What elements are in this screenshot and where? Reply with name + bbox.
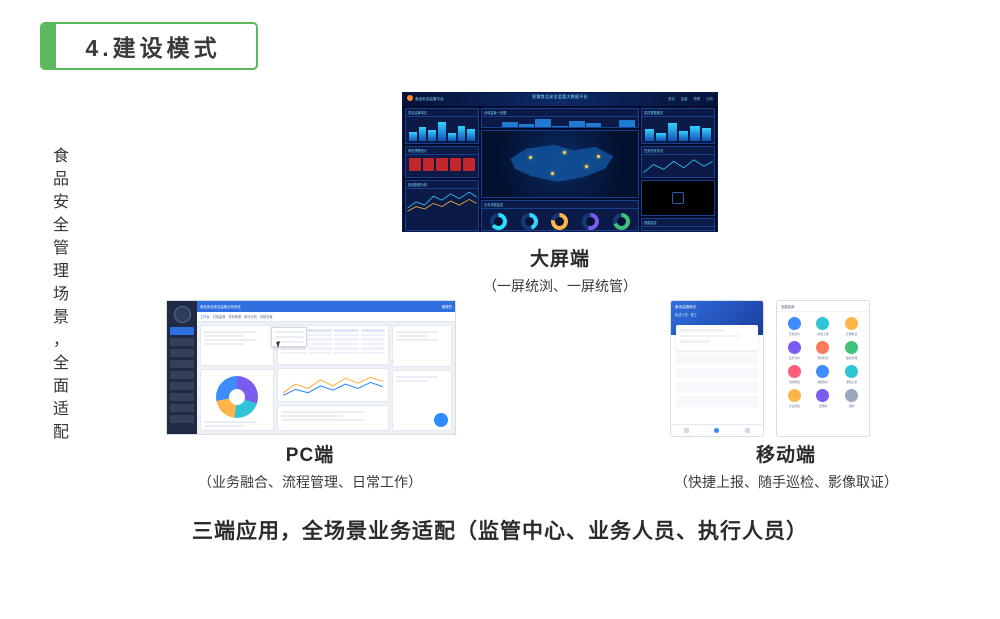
list-item[interactable] [676,354,758,365]
donut-gauge [551,213,568,230]
side-char: 品 [48,168,74,191]
side-char: 管 [48,237,74,260]
donut-gauge [582,213,599,230]
app-grid-item[interactable]: 抽检管理 [838,341,865,360]
mobile-apps-title: 全部应用 [777,301,869,309]
pc-sidebar-item[interactable] [170,327,194,335]
pc-sidebar-item[interactable] [170,404,194,412]
app-icon [845,341,858,354]
pc-sidebar [167,301,197,434]
app-grid-item[interactable]: 任务待办 [781,341,808,360]
bigscreen-tab[interactable]: 预警 [693,97,700,101]
pc-card-filters [200,325,274,366]
pc-content [197,322,455,434]
app-label: 任务待办 [781,356,808,360]
app-label: 我的 [838,404,865,408]
caption-mobile-sub: （快捷上报、随手巡检、影像取证） [636,472,936,492]
side-char: 景 [48,306,74,329]
app-label: 问题整改 [781,380,808,384]
pc-tab[interactable]: 日常监管 [213,314,226,319]
bigscreen-title: 智慧食品安全监管大数据平台 [532,94,588,100]
mobile-home-screen: 食安监管助手 执法人员 · 张工 [670,300,764,437]
app-label: 法规库 [810,404,837,408]
panel-title: 全域监管一张图 [482,109,638,117]
app-icon [816,317,829,330]
pc-tab[interactable]: 统计分析 [244,314,257,319]
pc-sidebar-item[interactable] [170,360,194,368]
caption-bigscreen: 大屏端 （一屏统浏、一屏统管） [402,244,718,296]
app-icon [788,365,801,378]
pc-card-donut [200,369,274,431]
bigscreen-middle-column: 全域监管一张图 业务流程监控 [481,108,639,231]
line-chart [406,189,478,213]
caption-mobile: 移动端 （快捷上报、随手巡检、影像取证） [636,440,936,492]
panel-title: 重点监管单位 [406,109,478,117]
pc-tab[interactable]: 任务管理 [228,314,241,319]
map-region-shape [501,140,620,186]
donut-gauge [490,213,507,230]
donut-row [482,209,638,231]
bigscreen-panel-left-mid: 风险预警统计 [405,146,479,178]
mobile-list [676,354,758,407]
bigscreen-tab[interactable]: 首页 [668,97,675,101]
app-label: 现场检查 [810,356,837,360]
bar-chart [642,117,714,143]
list-item[interactable] [676,368,758,379]
bigscreen-mockup: 食品安全监管平台 智慧食品安全监管大数据平台 首页 监管 预警 分析 重点监管单… [402,92,718,232]
side-char: 场 [48,283,74,306]
bigscreen-tab[interactable]: 分析 [706,97,713,101]
mobile-mockup-group: 食安监管助手 执法人员 · 张工 全部应用 日常巡查 [664,300,904,435]
bigscreen-tabs: 首页 监管 预警 分析 [663,96,713,101]
app-grid-item[interactable]: 问题整改 [781,365,808,384]
caption-bigscreen-title: 大屏端 [402,244,718,271]
app-label: 通知公告 [838,380,865,384]
side-char: 全 [48,214,74,237]
pc-topbar-user[interactable]: 管理员 [442,304,452,309]
app-label: 快捷上报 [810,332,837,336]
app-grid-item[interactable]: 日常巡查 [781,317,808,336]
side-char: 食 [48,145,74,168]
mobile-tabbar [671,424,763,436]
mobile-app-user: 执法人员 · 张工 [675,312,759,317]
list-item[interactable] [676,382,758,393]
bigscreen-left-column: 重点监管单位 风险预警统计 检测数据分析 [405,108,479,231]
logo-dot-icon [407,95,413,101]
bigscreen-tab[interactable]: 监管 [681,97,688,101]
tabbar-home-icon[interactable] [684,428,689,433]
pc-tabbar: 工作台 日常监管 任务管理 统计分析 系统设置 [197,312,455,322]
pc-topbar: 食品安全综合监管业务系统 管理员 [197,301,455,312]
app-icon [845,389,858,402]
pc-mockup: 食品安全综合监管业务系统 管理员 工作台 日常监管 任务管理 统计分析 系统设置 [166,300,456,435]
side-char: 全 [48,352,74,375]
app-icon [816,365,829,378]
app-grid-item[interactable]: 法规库 [810,389,837,408]
app-grid-item[interactable]: 通知公告 [838,365,865,384]
pc-sidebar-item[interactable] [170,371,194,379]
app-icon [845,365,858,378]
app-grid-item[interactable]: 数据统计 [810,365,837,384]
panel-title: 任务完成情况 [642,147,714,155]
pc-tab[interactable]: 系统设置 [260,314,273,319]
caption-bigscreen-sub: （一屏统浏、一屏统管） [402,276,718,296]
bottom-summary-line: 三端应用，全场景业务适配（监管中心、业务人员、执行人员） [0,515,1000,545]
bigscreen-logo: 食品安全监管平台 [407,95,444,102]
pc-floating-action-button[interactable] [434,413,448,427]
app-icon [788,317,801,330]
mini-flow-bars [482,117,638,128]
app-icon [816,389,829,402]
bigscreen-panel-mid-top: 全域监管一张图 [481,108,639,128]
map-marker [551,172,554,175]
mobile-apps-header: 全部应用 [777,301,869,312]
bar-chart [406,117,478,143]
app-grid-item[interactable]: 我的 [838,389,865,408]
app-icon [816,341,829,354]
pc-tab[interactable]: 工作台 [200,314,210,319]
pc-sidebar-item[interactable] [170,415,194,423]
app-icon [788,389,801,402]
pc-logo-icon [174,306,191,323]
app-label: 日常巡查 [781,332,808,336]
bigscreen-panel-right-bottom: 视频监控 [641,218,715,231]
caption-pc-sub: （业务融合、流程管理、日常工作） [150,472,470,492]
pc-sidebar-item[interactable] [170,338,194,346]
mobile-app-title: 食安监管助手 [675,305,759,310]
panel-title: 检测数据分析 [406,181,478,189]
vertical-side-caption: 食 品 安 全 管 理 场 景 ， 全 面 适 配 [48,145,74,444]
bigscreen-map-panel [481,130,639,198]
bigscreen-panel-right-top: 实时数据概览 [641,108,715,144]
app-label: 企业档案 [781,404,808,408]
side-char: 理 [48,260,74,283]
side-char: 安 [48,191,74,214]
panel-title: 业务流程监控 [482,201,638,209]
app-icon [845,317,858,330]
pc-sidebar-item[interactable] [170,349,194,357]
bigscreen-right-column: 实时数据概览 任务完成情况 视频监控 [641,108,715,231]
bigscreen-header: 食品安全监管平台 智慧食品安全监管大数据平台 首页 监管 预警 分析 [403,93,717,106]
title-badge-text: 4.建设模式 [56,29,256,63]
mobile-task-card[interactable] [676,325,758,350]
pc-donut-chart [216,376,258,418]
donut-gauge [613,213,630,230]
pc-main-area: 食品安全综合监管业务系统 管理员 工作台 日常监管 任务管理 统计分析 系统设置 [197,301,455,434]
app-grid-item[interactable]: 现场检查 [810,341,837,360]
tabbar-task-icon[interactable] [714,428,719,433]
bigscreen-panel-right-mid: 任务完成情况 [641,146,715,178]
side-char: 面 [48,375,74,398]
app-label: 数据统计 [810,380,837,384]
pc-topbar-title: 食品安全综合监管业务系统 [200,304,241,309]
section-title-badge: 4.建设模式 [40,22,258,70]
app-grid-item[interactable]: 影像取证 [838,317,865,336]
panel-title: 实时数据概览 [642,109,714,117]
pc-card-linechart [277,368,389,402]
map-marker [529,156,532,159]
pc-left-column [200,325,274,431]
side-char: 适 [48,398,74,421]
bigscreen-panel-mid-bottom: 业务流程监控 [481,200,639,231]
pc-card-barchart [277,405,389,431]
bigscreen-panel-left-bottom: 检测数据分析 [405,180,479,231]
panel-title: 视频监控 [642,219,714,227]
app-grid-item[interactable]: 企业档案 [781,389,808,408]
list-item[interactable] [676,396,758,407]
panel-title: 风险预警统计 [406,147,478,155]
video-monitor-panel [641,180,715,216]
caption-pc-title: PC端 [150,440,470,467]
mobile-apps-grid: 日常巡查 快捷上报 影像取证 任务待办 现场检查 抽检管理 [777,312,869,413]
side-char: 配 [48,421,74,444]
app-icon [788,341,801,354]
line-chart [642,155,714,178]
map-marker [563,151,566,154]
app-label: 影像取证 [838,332,865,336]
pc-sidebar-item[interactable] [170,382,194,390]
caption-pc: PC端 （业务融合、流程管理、日常工作） [150,440,470,492]
title-badge-accent-bar [42,24,56,68]
pc-card-summary [392,325,452,367]
bigscreen-logo-text: 食品安全监管平台 [415,97,444,101]
caption-mobile-title: 移动端 [636,440,936,467]
mobile-apps-screen: 全部应用 日常巡查 快捷上报 影像取证 任务待办 现场检查 [776,300,870,437]
app-grid-item[interactable]: 快捷上报 [810,317,837,336]
bigscreen-panel-left-top: 重点监管单位 [405,108,479,144]
alert-cards [406,155,478,174]
donut-gauge [521,213,538,230]
app-label: 抽检管理 [838,356,865,360]
tabbar-profile-icon[interactable] [745,428,750,433]
bigscreen-body: 重点监管单位 风险预警统计 检测数据分析 [403,106,717,232]
side-char: ， [48,329,74,352]
pc-sidebar-item[interactable] [170,393,194,401]
